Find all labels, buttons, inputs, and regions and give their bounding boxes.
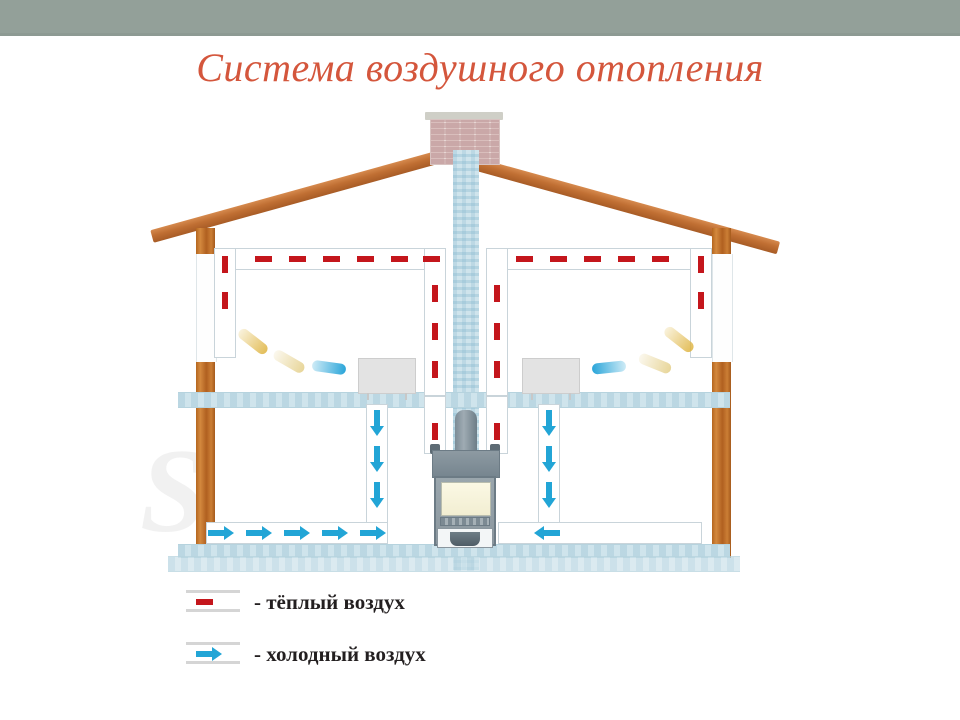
cold-arrow-down bbox=[542, 482, 556, 508]
warm-arrow-up bbox=[428, 314, 442, 340]
warm-arrow-up bbox=[428, 276, 442, 302]
cold-arrow-down bbox=[542, 410, 556, 436]
warm-arrow-up bbox=[490, 314, 504, 340]
warm-arrow-left bbox=[382, 252, 408, 266]
wall-left-middle-pillar bbox=[196, 362, 215, 544]
roof-right-slope bbox=[468, 156, 780, 254]
diagram-figure: S bbox=[0, 0, 960, 720]
cold-arrow-down bbox=[370, 410, 384, 436]
warm-arrow-left bbox=[348, 252, 374, 266]
wall-right-middle-pillar bbox=[712, 362, 731, 544]
furnace-flue-pipe bbox=[455, 410, 477, 452]
warm-arrow-right bbox=[584, 252, 610, 266]
cooling-arrow bbox=[272, 348, 307, 375]
warm-arrow-right bbox=[550, 252, 576, 266]
furnace-firebox-window bbox=[441, 482, 491, 516]
cold-arrow-down bbox=[542, 446, 556, 472]
grille-right bbox=[522, 358, 580, 394]
warm-arrow-left bbox=[246, 252, 272, 266]
warm-arrow-down bbox=[694, 256, 708, 282]
arrow-right-blue-icon bbox=[196, 647, 222, 661]
furnace-plenum bbox=[432, 450, 500, 478]
warm-arrow-left bbox=[314, 252, 340, 266]
cooling-arrow bbox=[236, 327, 270, 357]
warm-arrow-down bbox=[694, 292, 708, 318]
slide-canvas: Система воздушного отопления S bbox=[0, 0, 960, 720]
cold-arrow-right bbox=[360, 526, 386, 540]
warm-arrow-down bbox=[218, 256, 232, 282]
warm-arrow-down bbox=[218, 292, 232, 318]
cold-arrow-right bbox=[322, 526, 348, 540]
cold-arrow-down bbox=[370, 446, 384, 472]
warm-arrow-left bbox=[280, 252, 306, 266]
grille-left bbox=[358, 358, 416, 394]
cold-arrow-down bbox=[370, 482, 384, 508]
warm-arrow-up bbox=[490, 352, 504, 378]
warm-arrow-up bbox=[428, 414, 442, 440]
furnace-vent-grille bbox=[440, 517, 490, 526]
warm-arrow-up bbox=[428, 352, 442, 378]
cold-arrow-right bbox=[246, 526, 272, 540]
warm-arrow-up bbox=[490, 276, 504, 302]
legend-cold-label: - холодный воздух bbox=[254, 642, 426, 667]
floor-slab-middle bbox=[178, 392, 730, 408]
wall-right-upper-window bbox=[712, 254, 733, 362]
cold-arrow-right bbox=[208, 526, 234, 540]
duct-return-bottom-right bbox=[498, 522, 702, 544]
warm-arrow-up bbox=[490, 414, 504, 440]
cold-arrow-right bbox=[284, 526, 310, 540]
warm-arrow-right bbox=[516, 252, 542, 266]
cold-arrow-diagonal bbox=[592, 360, 627, 374]
legend-warm-label: - тёплый воздух bbox=[254, 590, 405, 615]
cooling-arrow bbox=[637, 352, 673, 375]
foundation-slab bbox=[168, 556, 740, 572]
wall-left-upper-pillar bbox=[196, 228, 215, 254]
furnace-blower bbox=[450, 532, 480, 546]
warm-arrow-left bbox=[414, 252, 440, 266]
wall-right-upper-pillar bbox=[712, 228, 731, 254]
warm-arrow-right bbox=[652, 252, 678, 266]
cold-arrow-diagonal bbox=[311, 360, 346, 376]
cold-arrow-left bbox=[534, 526, 560, 540]
warm-arrow-right bbox=[618, 252, 644, 266]
arrow-right-red-icon bbox=[196, 595, 222, 609]
